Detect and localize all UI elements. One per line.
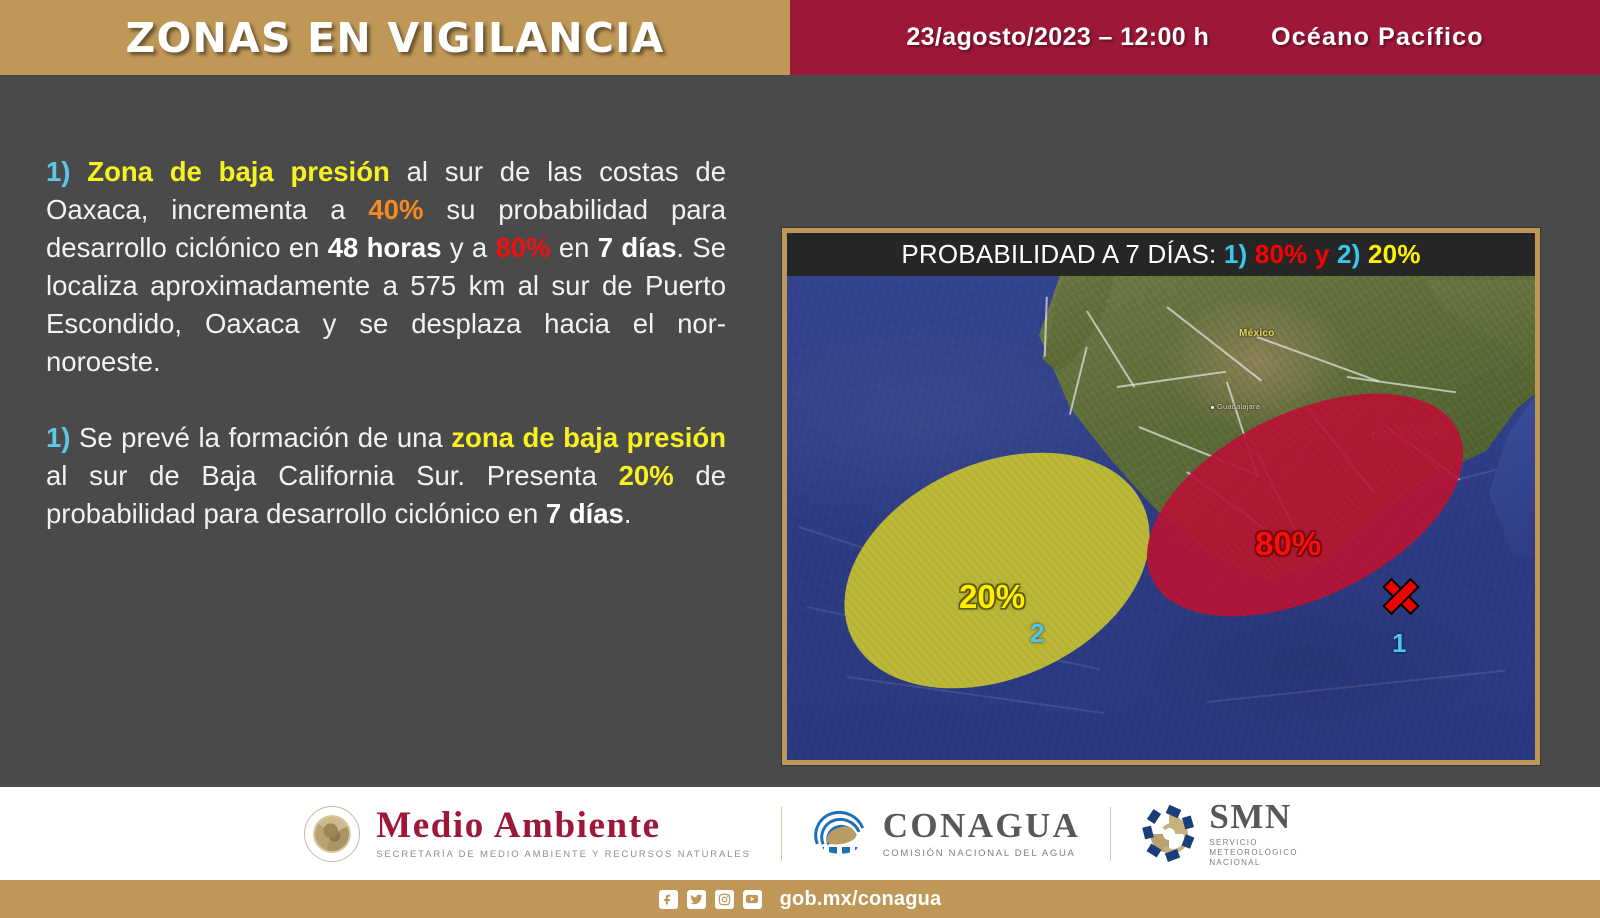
social-bar: gob.mx/conagua xyxy=(0,880,1600,918)
map-bar-pct-2: 20% xyxy=(1368,239,1421,269)
map-probability-text: PROBABILIDAD A 7 DÍAS: 1) 80% y 2) 20% xyxy=(901,239,1420,270)
bulletin-page: ZONAS EN VIGILANCIA 23/agosto/2023 – 12:… xyxy=(0,0,1600,918)
medio-ambiente-subtitle: SECRETARÍA DE MEDIO AMBIENTE Y RECURSOS … xyxy=(376,849,750,860)
p2-text-d: . xyxy=(624,498,632,529)
p2-zone-term: zona de baja presión xyxy=(451,422,726,453)
p2-text-b: al sur de Baja California Sur. Presenta xyxy=(46,460,619,491)
p1-probability-48h: 40% xyxy=(368,194,423,225)
logo-divider xyxy=(1110,807,1111,861)
paragraph-2-marker: 1) xyxy=(46,422,70,453)
smn-spiral-icon xyxy=(1141,806,1197,862)
paragraph-1-marker: 1) xyxy=(46,156,70,187)
p2-probability: 20% xyxy=(619,460,674,491)
zone-2-percent-label: 20% xyxy=(959,578,1025,616)
map-panel[interactable]: PROBABILIDAD A 7 DÍAS: 1) 80% y 2) 20% xyxy=(782,228,1540,765)
p1-probability-7d: 80% xyxy=(496,232,551,263)
facebook-icon[interactable] xyxy=(659,890,678,909)
page-header: ZONAS EN VIGILANCIA 23/agosto/2023 – 12:… xyxy=(0,0,1600,75)
header-title-band: ZONAS EN VIGILANCIA xyxy=(0,0,790,75)
p1-text-d: en xyxy=(551,232,598,263)
paragraph-zone-1: 1) Zona de baja presión al sur de las co… xyxy=(46,153,726,381)
logo-smn: SMN SERVICIOMETEOROLÓGICONACIONAL xyxy=(1141,799,1297,867)
smn-subtitle: SERVICIOMETEOROLÓGICONACIONAL xyxy=(1209,838,1297,867)
zone-2-number-label: 2 xyxy=(1030,618,1044,649)
p2-text-a: Se prevé la formación de una xyxy=(70,422,451,453)
conagua-subtitle: COMISIÓN NACIONAL DEL AGUA xyxy=(883,848,1081,859)
map-bar-conjunction: y xyxy=(1315,239,1330,269)
bulletin-datetime: 23/agosto/2023 – 12:00 h xyxy=(906,23,1209,52)
website-url[interactable]: gob.mx/conagua xyxy=(780,888,942,911)
p1-zone-term: Zona de baja presión xyxy=(87,156,390,187)
city-dot xyxy=(1211,406,1214,409)
smn-name: SMN xyxy=(1209,799,1297,834)
map-bar-label: PROBABILIDAD A 7 DÍAS: xyxy=(901,239,1216,269)
body-area: 1) Zona de baja presión al sur de las co… xyxy=(0,75,1600,787)
logo-conagua: CONAGUA COMISIÓN NACIONAL DEL AGUA xyxy=(812,805,1081,863)
country-label: México xyxy=(1239,328,1275,339)
ocean-basin-label: Océano Pacífico xyxy=(1271,23,1484,52)
x-marker-icon xyxy=(1378,573,1424,619)
mexico-seal-icon xyxy=(302,804,362,864)
logo-divider xyxy=(781,807,782,861)
map-bar-num-2: 2) xyxy=(1337,239,1361,269)
footer-logos: Medio Ambiente SECRETARÍA DE MEDIO AMBIE… xyxy=(0,787,1600,880)
p1-timeframe-48h: 48 horas xyxy=(328,232,442,263)
map-probability-bar: PROBABILIDAD A 7 DÍAS: 1) 80% y 2) 20% xyxy=(787,233,1535,276)
seafloor-ridge xyxy=(1207,670,1506,703)
map-bar-pct-1: 80% xyxy=(1255,239,1308,269)
instagram-icon[interactable] xyxy=(715,890,734,909)
logo-medio-ambiente: Medio Ambiente SECRETARÍA DE MEDIO AMBIE… xyxy=(302,804,750,864)
p2-timeframe: 7 días xyxy=(546,498,624,529)
medio-ambiente-name: Medio Ambiente xyxy=(376,807,750,844)
header-meta-band: 23/agosto/2023 – 12:00 h Océano Pacífico xyxy=(790,0,1600,75)
youtube-icon[interactable] xyxy=(743,890,762,909)
bulletin-text-column: 1) Zona de baja presión al sur de las co… xyxy=(46,153,726,533)
conagua-wave-icon xyxy=(812,805,870,863)
conagua-name: CONAGUA xyxy=(883,808,1081,843)
paragraph-zone-2: 1) Se prevé la formación de una zona de … xyxy=(46,419,726,533)
zone-1-percent-label: 80% xyxy=(1255,525,1321,563)
page-title: ZONAS EN VIGILANCIA xyxy=(126,14,665,62)
city-label-guadalajara: Guadalajara xyxy=(1217,402,1260,411)
p1-timeframe-7d: 7 días xyxy=(598,232,677,263)
map-canvas[interactable]: PROBABILIDAD A 7 DÍAS: 1) 80% y 2) 20% xyxy=(787,233,1535,760)
p1-text-c: y a xyxy=(442,232,496,263)
map-bar-num-1: 1) xyxy=(1224,239,1248,269)
zone-1-number-label: 1 xyxy=(1392,628,1406,659)
twitter-icon[interactable] xyxy=(687,890,706,909)
